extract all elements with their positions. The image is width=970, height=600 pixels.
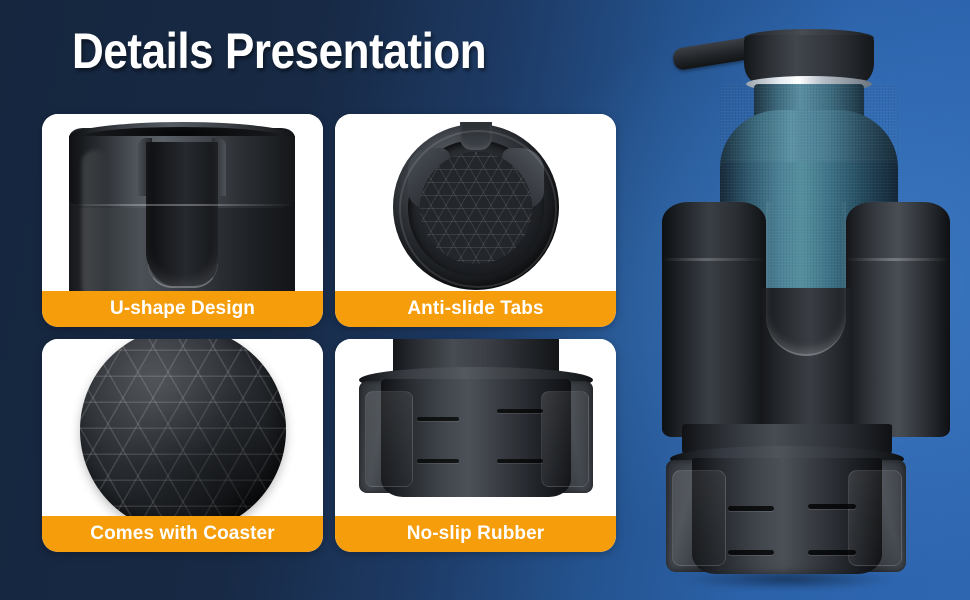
product-detail-banner: Details Presentation U-shape Desig [0,0,970,600]
feature-card-comes-with-coaster[interactable]: Comes with Coaster [42,339,323,552]
coaster-shading-shape [80,339,286,516]
adapter-slot-right-top [808,504,856,509]
feature-label-no-slip-rubber: No-slip Rubber [335,516,616,552]
adapter-slot-left-top [728,506,774,511]
cup-holder-adapter-shape [656,202,956,442]
holder-right-wall-shape [846,202,950,437]
feature-label-u-shape-design: U-shape Design [42,291,323,327]
feature-label-comes-with-coaster: Comes with Coaster [42,516,323,552]
u-shape-design-photo [42,114,323,291]
holder-u-cutout-shape [766,202,846,356]
rubber-pad-left-shape [365,391,413,487]
adapter-pad-right-shape [848,470,902,566]
grip-slot-right-bottom [497,459,543,463]
holder-gloss-shape [82,150,108,291]
coaster-photo [42,339,323,516]
feature-card-u-shape-design[interactable]: U-shape Design [42,114,323,327]
grip-slot-right-top [497,409,543,413]
feature-card-grid: U-shape Design Anti-slide Tabs [42,114,616,552]
grip-slot-left-bottom [417,459,459,463]
product-drop-shadow [680,568,896,590]
adapter-pad-left-shape [672,470,726,566]
anti-slide-tabs-photo [335,114,616,291]
holder-right-seam-shape [846,258,950,261]
feature-card-no-slip-rubber[interactable]: No-slip Rubber [335,339,616,552]
page-title: Details Presentation [72,26,486,76]
no-slip-rubber-photo [335,339,616,516]
holder-rim-highlight-shape [399,130,557,288]
adapter-slot-right-bottom [808,550,856,555]
adapter-slot-left-bottom [728,550,774,555]
coaster-disc-shape [80,339,286,516]
grip-slot-left-top [417,417,459,421]
feature-card-anti-slide-tabs[interactable]: Anti-slide Tabs [335,114,616,327]
hero-product-image [636,12,970,592]
holder-left-seam-shape [662,258,766,261]
rubber-pad-right-shape [541,391,589,487]
holder-left-wall-shape [662,202,766,437]
feature-label-anti-slide-tabs: Anti-slide Tabs [335,291,616,327]
